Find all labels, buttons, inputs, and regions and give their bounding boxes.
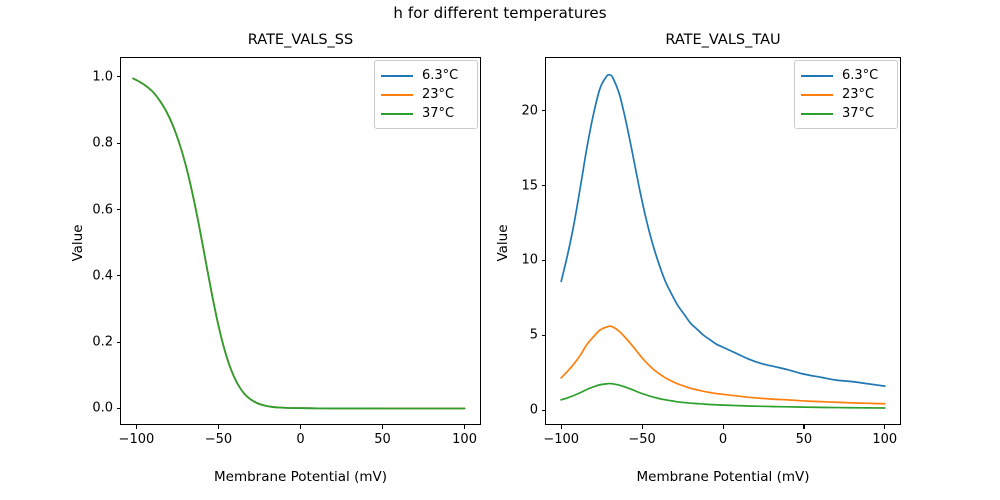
- x-tick-label: 0: [688, 432, 758, 447]
- y-tick-label: 0.2: [58, 335, 113, 350]
- x-tick-mark: [218, 425, 219, 429]
- legend-line-icon: [381, 75, 413, 77]
- legend-item[interactable]: 23°C: [801, 85, 890, 104]
- axes-title-right: RATE_VALS_TAU: [545, 32, 901, 48]
- legend-left[interactable]: 6.3°C23°C37°C: [374, 60, 478, 129]
- legend-item[interactable]: 6.3°C: [381, 66, 470, 85]
- y-tick-mark: [542, 110, 546, 111]
- x-tick-mark: [642, 425, 643, 429]
- y-tick-mark: [542, 335, 546, 336]
- series-line: [561, 384, 885, 408]
- y-tick-mark: [542, 260, 546, 261]
- y-tick-mark: [542, 185, 546, 186]
- y-tick-label: 0: [483, 403, 538, 418]
- x-tick-mark: [803, 425, 804, 429]
- xlabel-right: Membrane Potential (mV): [545, 469, 901, 485]
- legend-label: 6.3°C: [842, 68, 878, 83]
- legend-label: 37°C: [422, 106, 454, 121]
- y-tick-label: 5: [483, 328, 538, 343]
- x-tick-label: −50: [183, 432, 253, 447]
- legend-right[interactable]: 6.3°C23°C37°C: [794, 60, 898, 129]
- series-line: [561, 326, 885, 403]
- axes-title-left: RATE_VALS_SS: [120, 32, 481, 48]
- y-tick-mark: [117, 143, 121, 144]
- legend-line-icon: [381, 94, 413, 96]
- y-tick-label: 20: [483, 103, 538, 118]
- x-tick-mark: [561, 425, 562, 429]
- x-tick-label: −100: [526, 432, 596, 447]
- y-tick-mark: [117, 342, 121, 343]
- y-tick-label: 0.0: [58, 401, 113, 416]
- y-tick-mark: [542, 410, 546, 411]
- x-tick-label: 100: [850, 432, 920, 447]
- y-tick-mark: [117, 76, 121, 77]
- figure-suptitle: h for different temperatures: [0, 4, 1000, 22]
- y-tick-mark: [117, 408, 121, 409]
- y-tick-label: 0.8: [58, 136, 113, 151]
- x-tick-mark: [884, 425, 885, 429]
- y-tick-mark: [117, 209, 121, 210]
- x-tick-mark: [136, 425, 137, 429]
- y-tick-mark: [117, 275, 121, 276]
- legend-label: 37°C: [842, 106, 874, 121]
- legend-line-icon: [801, 75, 833, 77]
- x-tick-mark: [464, 425, 465, 429]
- legend-line-icon: [801, 113, 833, 115]
- x-tick-label: 0: [266, 432, 336, 447]
- ylabel-right: Value: [495, 163, 511, 323]
- x-tick-label: −100: [101, 432, 171, 447]
- x-tick-mark: [723, 425, 724, 429]
- xlabel-left: Membrane Potential (mV): [120, 469, 481, 485]
- x-tick-label: 100: [430, 432, 500, 447]
- legend-label: 23°C: [422, 87, 454, 102]
- x-tick-label: 50: [769, 432, 839, 447]
- legend-item[interactable]: 37°C: [381, 104, 470, 123]
- legend-item[interactable]: 23°C: [381, 85, 470, 104]
- x-tick-mark: [300, 425, 301, 429]
- legend-label: 23°C: [842, 87, 874, 102]
- ylabel-left: Value: [70, 163, 86, 323]
- x-tick-label: 50: [348, 432, 418, 447]
- y-tick-label: 1.0: [58, 69, 113, 84]
- matplotlib-figure: h for different temperatures RATE_VALS_S…: [0, 0, 1000, 500]
- legend-line-icon: [381, 113, 413, 115]
- x-tick-mark: [382, 425, 383, 429]
- legend-line-icon: [801, 94, 833, 96]
- legend-label: 6.3°C: [422, 68, 458, 83]
- legend-item[interactable]: 37°C: [801, 104, 890, 123]
- legend-item[interactable]: 6.3°C: [801, 66, 890, 85]
- x-tick-label: −50: [607, 432, 677, 447]
